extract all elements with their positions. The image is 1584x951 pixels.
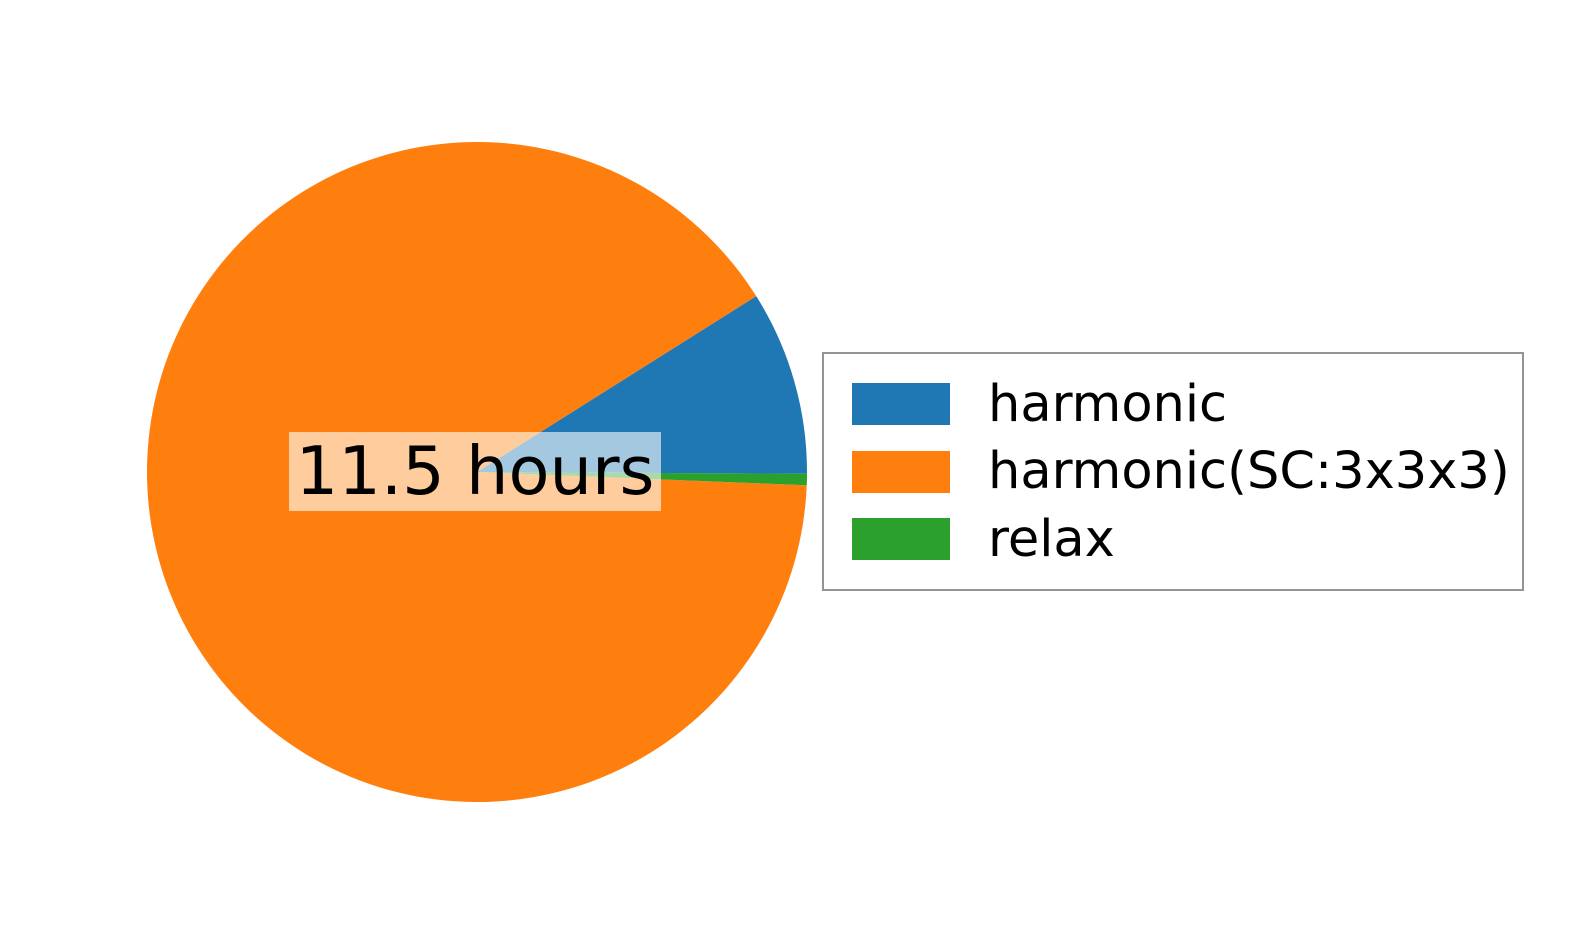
- legend-items: harmonicharmonic(SC:3x3x3)relax: [824, 354, 1522, 589]
- legend-swatch-icon: [852, 451, 950, 493]
- legend-row[interactable]: harmonic: [824, 373, 1522, 435]
- legend-swatch-icon: [852, 383, 950, 425]
- legend-swatch-icon: [852, 518, 950, 560]
- legend-label: harmonic(SC:3x3x3): [988, 446, 1510, 497]
- center-annotation-text: 11.5 hours: [289, 432, 661, 511]
- legend-box: harmonicharmonic(SC:3x3x3)relax: [822, 352, 1524, 591]
- legend-row[interactable]: relax: [824, 508, 1522, 570]
- legend-label: harmonic: [988, 379, 1227, 430]
- pie-chart-figure: 11.5 hours harmonicharmonic(SC:3x3x3)rel…: [0, 0, 1584, 951]
- center-annotation: 11.5 hours: [289, 432, 661, 511]
- legend-row[interactable]: harmonic(SC:3x3x3): [824, 441, 1522, 503]
- legend-label: relax: [988, 514, 1115, 565]
